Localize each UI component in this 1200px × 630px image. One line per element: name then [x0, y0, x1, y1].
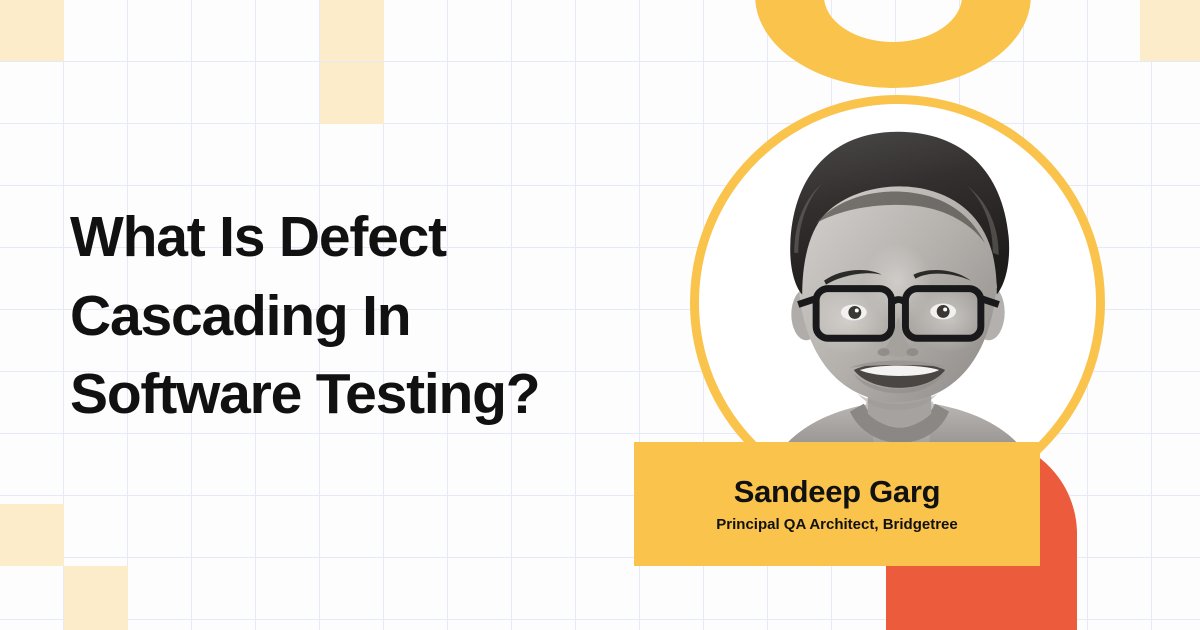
grid-highlight-cell	[1140, 0, 1200, 61]
grid-highlight-cell	[320, 62, 384, 124]
headline-line-1: What Is Defect	[70, 198, 630, 277]
grid-highlight-cell	[0, 504, 64, 566]
speaker-banner: Sandeep Garg Principal QA Architect, Bri…	[634, 442, 1040, 566]
page-title: What Is Defect Cascading In Software Tes…	[70, 198, 630, 434]
headline-line-2: Cascading In	[70, 277, 630, 356]
speaker-role: Principal QA Architect, Bridgetree	[716, 517, 957, 532]
headline-line-3: Software Testing?	[70, 355, 630, 434]
grid-highlight-cell	[0, 0, 64, 61]
grid-highlight-cell	[320, 0, 384, 61]
grid-highlight-cell	[64, 566, 128, 630]
social-card: Sandeep Garg Principal QA Architect, Bri…	[0, 0, 1200, 630]
speaker-name: Sandeep Garg	[734, 476, 941, 507]
